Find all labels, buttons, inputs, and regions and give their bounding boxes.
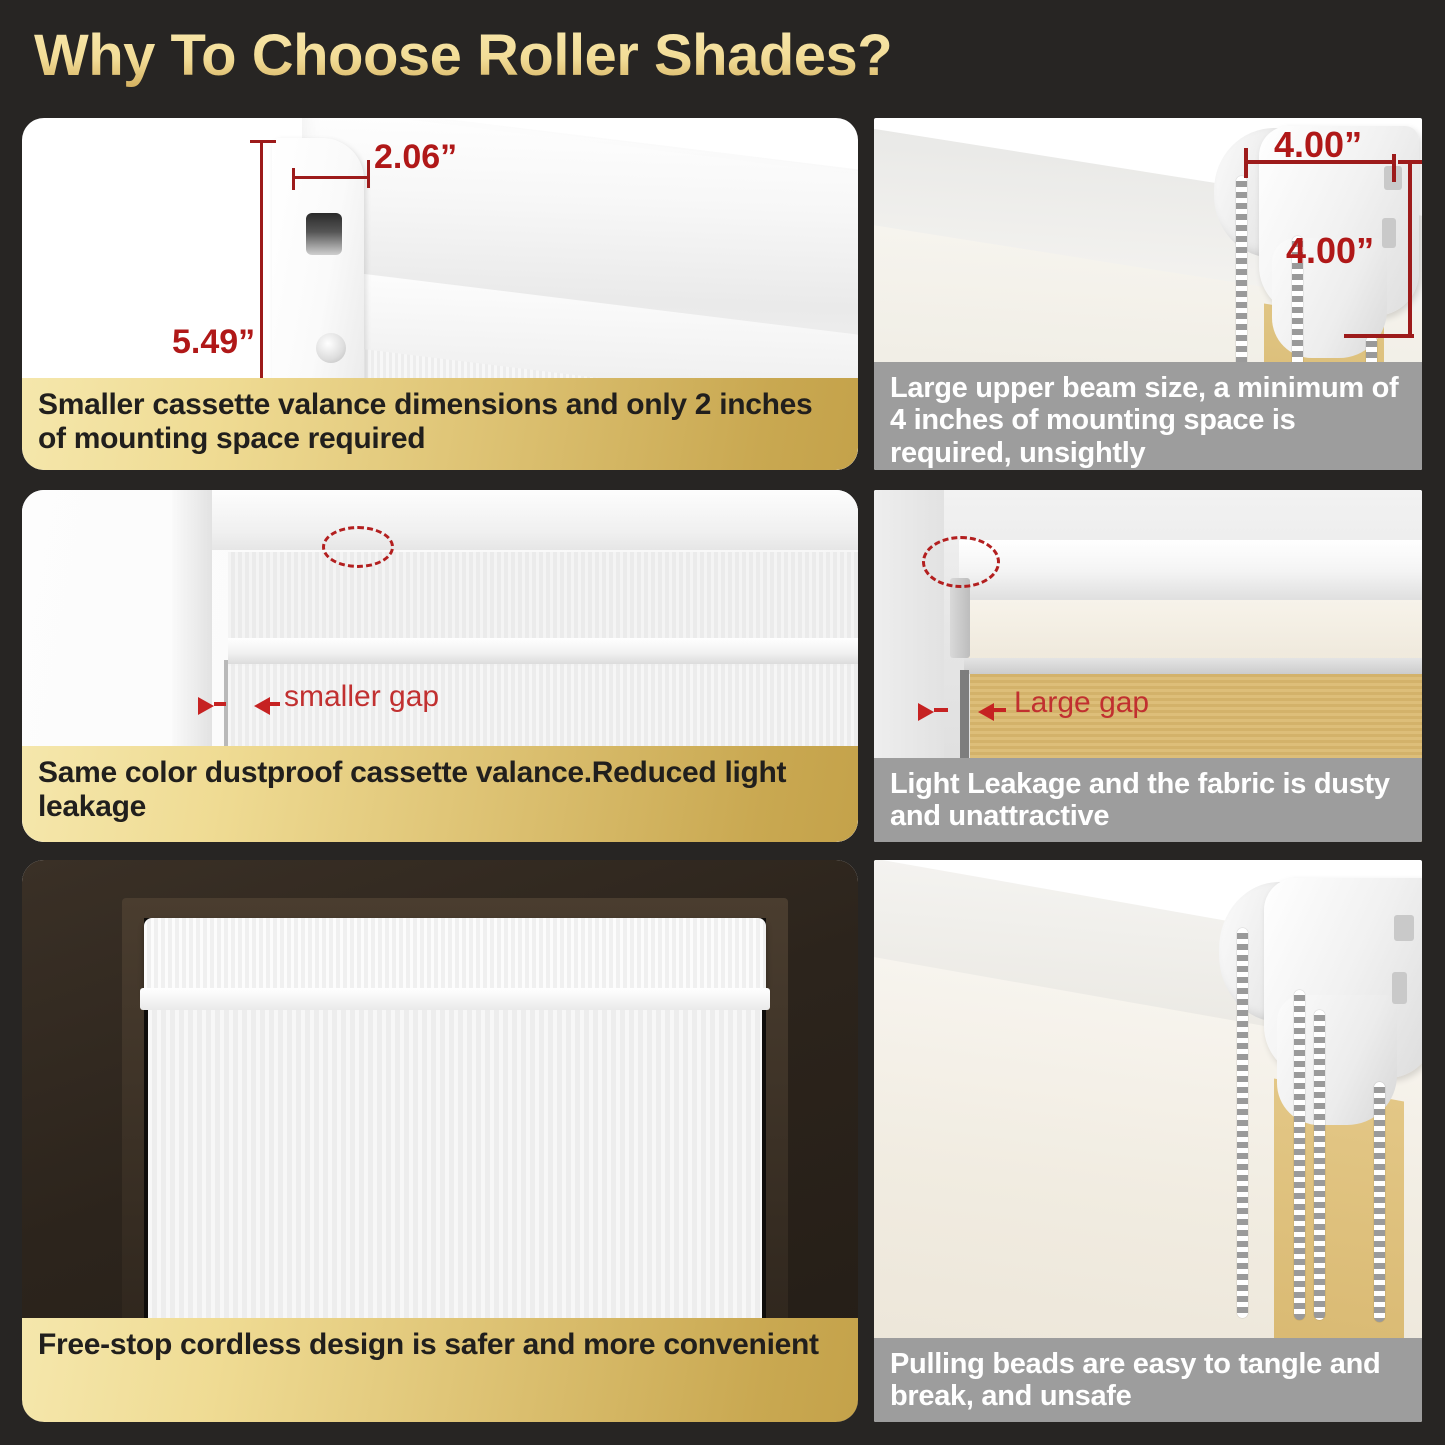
panel-4-light-leakage: Large gap Light Leakage and the fabric i… bbox=[874, 490, 1422, 842]
gap-arrow-right-icon bbox=[978, 703, 994, 721]
panel-5-cordless-design: Free-stop cordless design is safer and m… bbox=[22, 860, 858, 1422]
panel-1-smaller-cassette: 5.49” 2.06” Smaller cassette valance dim… bbox=[22, 118, 858, 470]
bead-chain-2 bbox=[1294, 990, 1305, 1320]
width-dimension-label: 2.06” bbox=[374, 138, 457, 177]
height-dimension-label: 5.49” bbox=[172, 323, 255, 362]
gap-arrow-left-icon bbox=[918, 703, 934, 721]
bead-chain-1 bbox=[1237, 928, 1248, 1318]
bead-chain-3 bbox=[1314, 1010, 1325, 1320]
height-dimension-tick-top bbox=[1398, 160, 1422, 164]
highlight-circle-icon bbox=[322, 526, 394, 568]
panel-5-caption: Free-stop cordless design is safer and m… bbox=[22, 1318, 858, 1422]
height-dimension-tick-bottom bbox=[1344, 334, 1414, 338]
gap-arrow-right-icon bbox=[254, 697, 270, 715]
large-gap-label: Large gap bbox=[1014, 686, 1149, 720]
highlight-circle-icon bbox=[922, 536, 1000, 588]
panel-3-dustproof-valance: smaller gap Same color dustproof cassett… bbox=[22, 490, 858, 842]
height-dimension-tick-top bbox=[250, 140, 276, 143]
bead-chain-4 bbox=[1374, 1082, 1385, 1322]
beam-width-label: 4.00” bbox=[1274, 124, 1362, 166]
smaller-gap-label: smaller gap bbox=[284, 680, 439, 714]
panel-2-caption: Large upper beam size, a minimum of 4 in… bbox=[874, 362, 1422, 470]
infographic-root: Why To Choose Roller Shades? 5.49” 2.06”… bbox=[0, 0, 1445, 1445]
panel-6-caption: Pulling beads are easy to tangle and bre… bbox=[874, 1338, 1422, 1422]
page-title: Why To Choose Roller Shades? bbox=[34, 22, 892, 89]
gap-arrow-left-icon bbox=[198, 697, 214, 715]
beam-height-label: 4.00” bbox=[1286, 230, 1374, 272]
width-dimension-line bbox=[292, 176, 370, 179]
panel-4-caption: Light Leakage and the fabric is dusty an… bbox=[874, 758, 1422, 842]
panel-1-caption: Smaller cassette valance dimensions and … bbox=[22, 378, 858, 470]
width-dimension-tick-left bbox=[292, 168, 295, 190]
height-dimension-line bbox=[1408, 160, 1412, 338]
width-dimension-tick-right bbox=[367, 160, 370, 188]
panel-3-caption: Same color dustproof cassette valance.Re… bbox=[22, 746, 858, 842]
panel-2-large-beam: 4.00” 4.00” Large upper beam size, a min… bbox=[874, 118, 1422, 470]
width-dimension-tick-right bbox=[1392, 154, 1396, 182]
panel-6-pulling-beads: Pulling beads are easy to tangle and bre… bbox=[874, 860, 1422, 1422]
